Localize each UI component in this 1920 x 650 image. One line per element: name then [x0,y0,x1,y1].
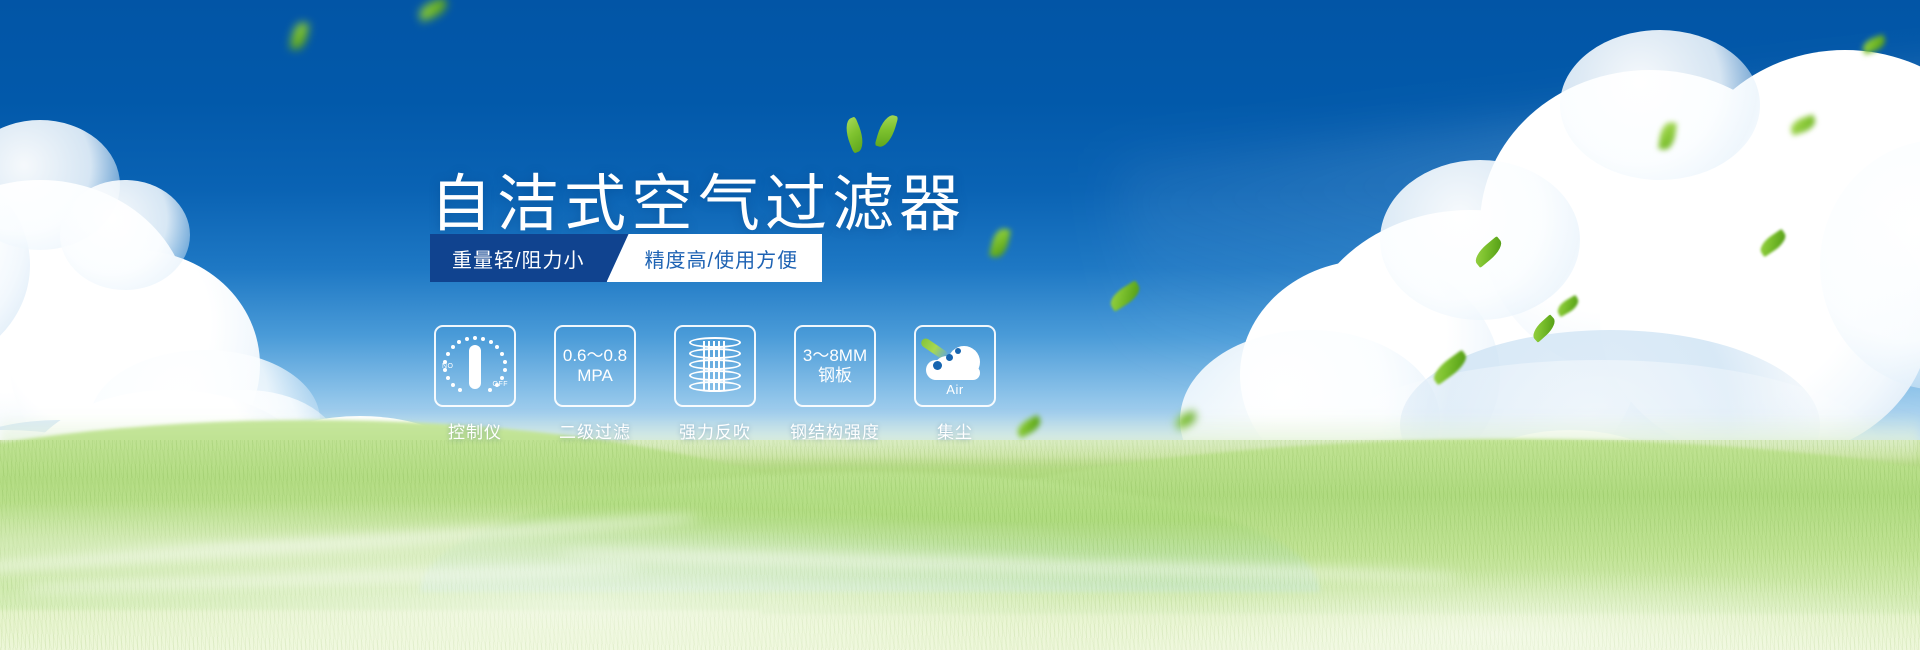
feature-icon-box: 3～8MM 钢板 [794,325,876,407]
feature-caption: 钢结构强度 [790,418,880,443]
page-title: 自洁式空气过滤器 [430,174,966,236]
tag-highlight-1: 重量轻/阻力小 [430,234,629,282]
leaf-icon [875,113,899,150]
tag-highlight-2: 精度高/使用方便 [607,234,823,282]
feature-icon-box: Air [914,325,996,407]
control-dial-icon: NO OFF [443,336,507,396]
feature-item-pressure[interactable]: 0.6～0.8 MPA 二级过滤 [554,325,636,443]
feature-icon-box [674,325,756,407]
feature-item-dust[interactable]: Air 集尘 [914,325,996,443]
feature-caption: 强力反吹 [679,418,751,443]
dial-on-label: NO [442,363,454,370]
steel-line-1: 3～8MM [803,346,867,366]
tag-strip: 重量轻/阻力小 精度高/使用方便 [430,234,822,282]
steel-plate-text-icon: 3～8MM 钢板 [803,346,867,386]
feature-caption: 集尘 [937,418,973,443]
feature-list: NO OFF 控制仪 0.6～0.8 MPA 二级过滤 [434,325,996,443]
air-label: Air [924,382,986,397]
feature-item-steel[interactable]: 3～8MM 钢板 钢结构强度 [794,325,876,443]
feature-item-control[interactable]: NO OFF 控制仪 [434,325,516,443]
pressure-line-1: 0.6～0.8 [563,346,627,366]
dial-off-label: OFF [493,381,509,388]
banner-content: 自洁式空气过滤器 重量轻/阻力小 精度高/使用方便 [0,0,1920,650]
air-cloud-icon: Air [924,338,986,394]
feature-icon-box: NO OFF [434,325,516,407]
dial-needle [469,345,481,389]
feature-icon-box: 0.6～0.8 MPA [554,325,636,407]
feature-caption: 二级过滤 [559,418,631,443]
steel-line-2: 钢板 [803,366,867,386]
pressure-line-2: MPA [563,366,627,386]
feature-caption: 控制仪 [448,418,502,443]
leaf-icon [841,116,868,153]
feature-item-backblow[interactable]: 强力反吹 [674,325,756,443]
pressure-text-icon: 0.6～0.8 MPA [563,346,627,386]
product-banner: 自洁式空气过滤器 重量轻/阻力小 精度高/使用方便 [0,0,1920,650]
title-decor-leaves [845,112,905,152]
filter-cartridge-icon [689,337,741,395]
